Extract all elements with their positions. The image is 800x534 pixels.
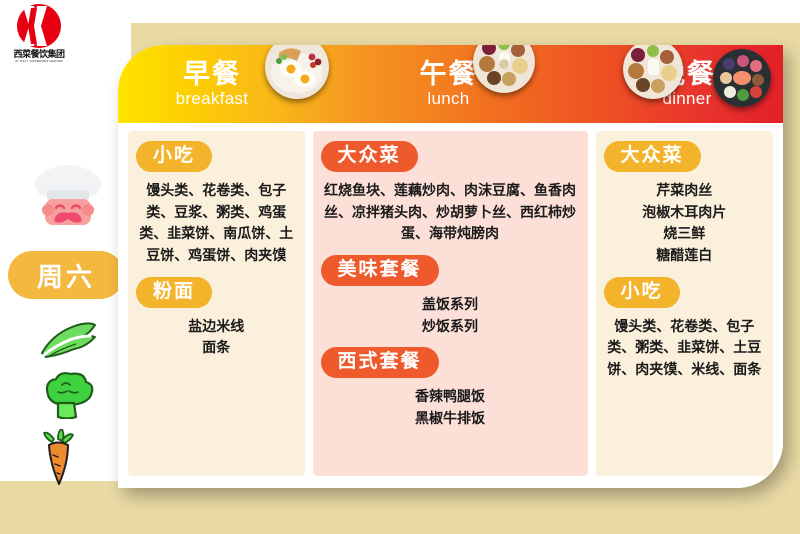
carrot-icon (38, 429, 78, 487)
menu-item: 炒饭系列 (323, 317, 578, 339)
logo-mark (11, 4, 67, 48)
brand-name-en: XI CAI I CATERING GROUP (6, 59, 72, 63)
menu-item: 面条 (138, 338, 295, 360)
tab-breakfast-label-cn: 早餐 (176, 61, 249, 88)
section-lunch-western-set: 西式套餐 香辣鸭腿饭 黑椒牛排饭 (321, 347, 580, 430)
xicai-logo-icon (11, 4, 67, 48)
menu-card: 早餐 breakfast 午餐 lunch 晚餐 dinner (118, 45, 783, 488)
menu-item: 香辣鸭腿饭 (323, 387, 578, 409)
day-label: 周六 (37, 257, 95, 294)
section-title-chip[interactable]: 美味套餐 (321, 255, 439, 286)
section-title-chip[interactable]: 西式套餐 (321, 347, 439, 378)
tab-breakfast-label-en: breakfast (176, 90, 249, 107)
brand-name-cn: 西菜餐饮集团 (6, 49, 72, 59)
section-title-chip[interactable]: 小吃 (604, 277, 680, 308)
menu-item: 盖饭系列 (323, 295, 578, 317)
section-title-chip[interactable]: 小吃 (136, 141, 212, 172)
meal-header-bar: 早餐 breakfast 午餐 lunch 晚餐 dinner (118, 45, 783, 123)
section-breakfast-noodles: 粉面 盐边米线 面条 (136, 277, 297, 360)
day-label-pill[interactable]: 周六 (8, 251, 124, 299)
tab-lunch-label-en: lunch (420, 90, 478, 107)
section-items: 香辣鸭腿饭 黑椒牛排饭 (321, 387, 580, 430)
section-dinner-popular: 大众菜 芹菜肉丝 泡椒木耳肉片 烧三鲜 糖醋莲白 (604, 141, 766, 268)
section-items: 芹菜肉丝 泡椒木耳肉片 烧三鲜 糖醋莲白 (604, 181, 766, 268)
tab-lunch[interactable]: 午餐 lunch (306, 45, 591, 123)
brand-logo: 西菜餐饮集团 XI CAI I CATERING GROUP (6, 4, 72, 64)
section-breakfast-snacks: 小吃 馒头类、花卷类、包子类、豆浆、粥类、鸡蛋类、韭菜饼、南瓜饼、土豆饼、鸡蛋饼… (136, 141, 297, 268)
sidebar: 周六 (0, 23, 131, 481)
section-items: 盖饭系列 炒饭系列 (321, 295, 580, 338)
menu-item: 黑椒牛排饭 (323, 409, 578, 431)
section-title-chip[interactable]: 大众菜 (321, 141, 418, 172)
section-items: 红烧鱼块、莲藕炒肉、肉沫豆腐、鱼香肉丝、凉拌猪头肉、炒胡萝卜丝、西红柿炒蛋、海带… (321, 181, 580, 246)
section-lunch-popular: 大众菜 红烧鱼块、莲藕炒肉、肉沫豆腐、鱼香肉丝、凉拌猪头肉、炒胡萝卜丝、西红柿炒… (321, 141, 580, 246)
cabbage-icon (38, 319, 98, 361)
section-items: 馒头类、花卷类、包子类、粥类、韭菜饼、土豆饼、肉夹馍、米线、面条 (604, 317, 766, 382)
section-title-chip[interactable]: 大众菜 (604, 141, 701, 172)
column-breakfast: 小吃 馒头类、花卷类、包子类、豆浆、粥类、鸡蛋类、韭菜饼、南瓜饼、土豆饼、鸡蛋饼… (128, 131, 305, 476)
section-items: 盐边米线 面条 (136, 317, 297, 360)
section-title-chip[interactable]: 粉面 (136, 277, 212, 308)
dinner-photo-icon (713, 49, 771, 107)
menu-item: 泡椒木耳肉片 (606, 203, 764, 225)
section-lunch-set-meal: 美味套餐 盖饭系列 炒饭系列 (321, 255, 580, 338)
section-items: 馒头类、花卷类、包子类、豆浆、粥类、鸡蛋类、韭菜饼、南瓜饼、土豆饼、鸡蛋饼、肉夹… (136, 181, 297, 268)
column-dinner: 大众菜 芹菜肉丝 泡椒木耳肉片 烧三鲜 糖醋莲白 小吃 馒头类、花卷类、包子类、… (596, 131, 774, 476)
tab-lunch-label-cn: 午餐 (420, 61, 478, 88)
column-lunch: 大众菜 红烧鱼块、莲藕炒肉、肉沫豆腐、鱼香肉丝、凉拌猪头肉、炒胡萝卜丝、西红柿炒… (313, 131, 588, 476)
menu-columns: 小吃 馒头类、花卷类、包子类、豆浆、粥类、鸡蛋类、韭菜饼、南瓜饼、土豆饼、鸡蛋饼… (118, 123, 783, 488)
menu-poster: 西菜餐饮集团 XI CAI I CATERING GROUP 周六 (0, 0, 800, 534)
meal-tabs: 早餐 breakfast 午餐 lunch 晚餐 dinner (118, 45, 783, 123)
menu-item: 糖醋莲白 (606, 246, 764, 268)
chef-mascot-icon (32, 163, 104, 225)
menu-item: 盐边米线 (138, 317, 295, 339)
menu-item: 芹菜肉丝 (606, 181, 764, 203)
section-dinner-snacks: 小吃 馒头类、花卷类、包子类、粥类、韭菜饼、土豆饼、肉夹馍、米线、面条 (604, 277, 766, 382)
menu-item: 烧三鲜 (606, 224, 764, 246)
broccoli-icon (38, 371, 96, 419)
